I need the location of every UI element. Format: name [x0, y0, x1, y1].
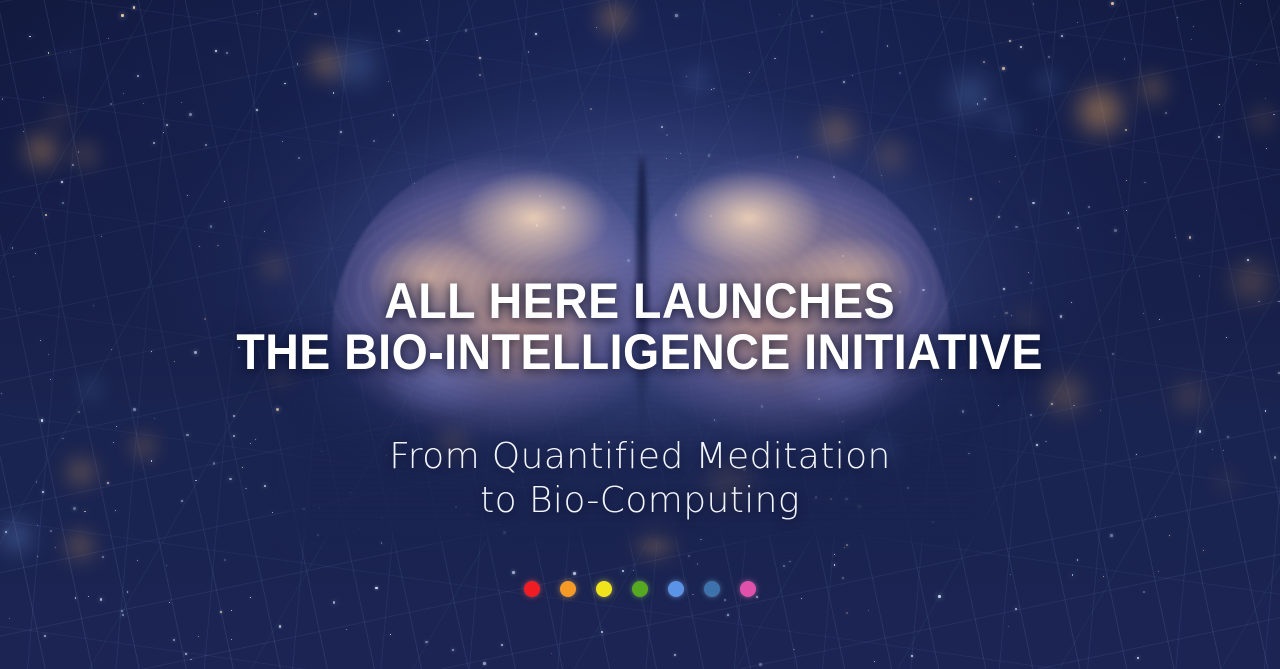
subtitle-line-1: From Quantified Meditation	[389, 436, 891, 477]
page-subtitle: From Quantified Meditation to Bio-Comput…	[389, 435, 891, 523]
chakra-dot-sacral	[560, 581, 576, 597]
chakra-dot-third-eye	[704, 581, 720, 597]
chakra-dot-crown	[740, 581, 756, 597]
chakra-dot-row	[524, 581, 756, 597]
chakra-dot-solar-plexus	[596, 581, 612, 597]
chakra-dot-root	[524, 581, 540, 597]
hero-copy: ALL HERE LAUNCHES THE BIO-INTELLIGENCE I…	[0, 0, 1280, 669]
hero-banner: ALL HERE LAUNCHES THE BIO-INTELLIGENCE I…	[0, 0, 1280, 669]
chakra-dot-throat	[668, 581, 684, 597]
subtitle-line-2: to Bio-Computing	[389, 479, 891, 523]
page-title: ALL HERE LAUNCHES THE BIO-INTELLIGENCE I…	[237, 276, 1044, 378]
headline-line-2: THE BIO-INTELLIGENCE INITIATIVE	[237, 327, 1044, 378]
headline-line-1: ALL HERE LAUNCHES	[385, 273, 896, 329]
chakra-dot-heart	[632, 581, 648, 597]
